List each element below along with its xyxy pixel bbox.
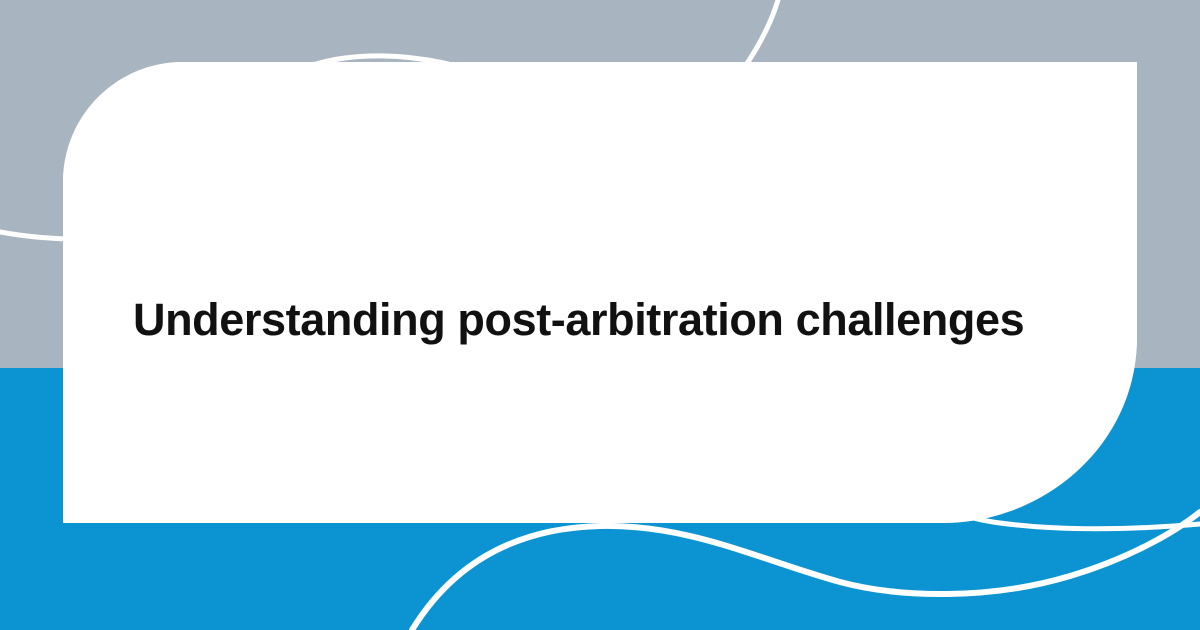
white-content-card (63, 62, 1137, 523)
social-share-banner: Understanding post-arbitration challenge… (0, 0, 1200, 630)
background-artwork (0, 0, 1200, 630)
